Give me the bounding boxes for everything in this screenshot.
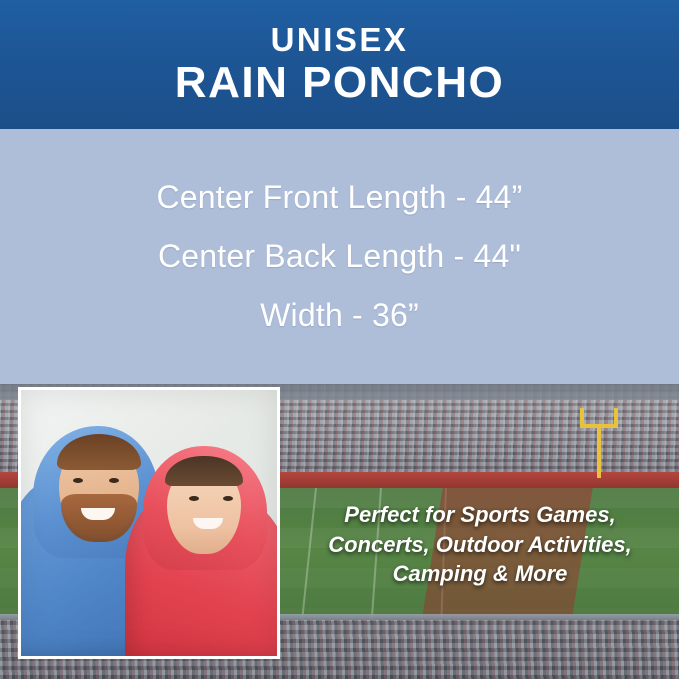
male-model-left-eye <box>73 478 83 483</box>
caption-line-3: Camping & More <box>300 559 660 589</box>
header-title-unisex: UNISEX <box>271 23 409 58</box>
product-poster: UNISEX RAIN PONCHO Center Front Length -… <box>0 0 679 679</box>
promo-caption: Perfect for Sports Games, Concerts, Outd… <box>300 500 660 589</box>
caption-line-2: Concerts, Outdoor Activities, <box>300 530 660 560</box>
measurements-panel: Center Front Length - 44” Center Back Le… <box>0 129 679 384</box>
caption-line-1: Perfect for Sports Games, <box>300 500 660 530</box>
measurement-width: Width - 36” <box>260 297 419 334</box>
poster-header: UNISEX RAIN PONCHO <box>0 0 679 129</box>
models-photo-inset <box>18 387 280 659</box>
male-model-right-eye <box>109 478 119 483</box>
header-title-rain-poncho: RAIN PONCHO <box>175 60 504 106</box>
female-model-right-eye <box>223 496 233 501</box>
measurement-center-back-length: Center Back Length - 44" <box>158 238 521 275</box>
measurement-center-front-length: Center Front Length - 44” <box>156 179 522 216</box>
female-model-left-eye <box>189 496 199 501</box>
goalpost-icon <box>576 408 622 478</box>
